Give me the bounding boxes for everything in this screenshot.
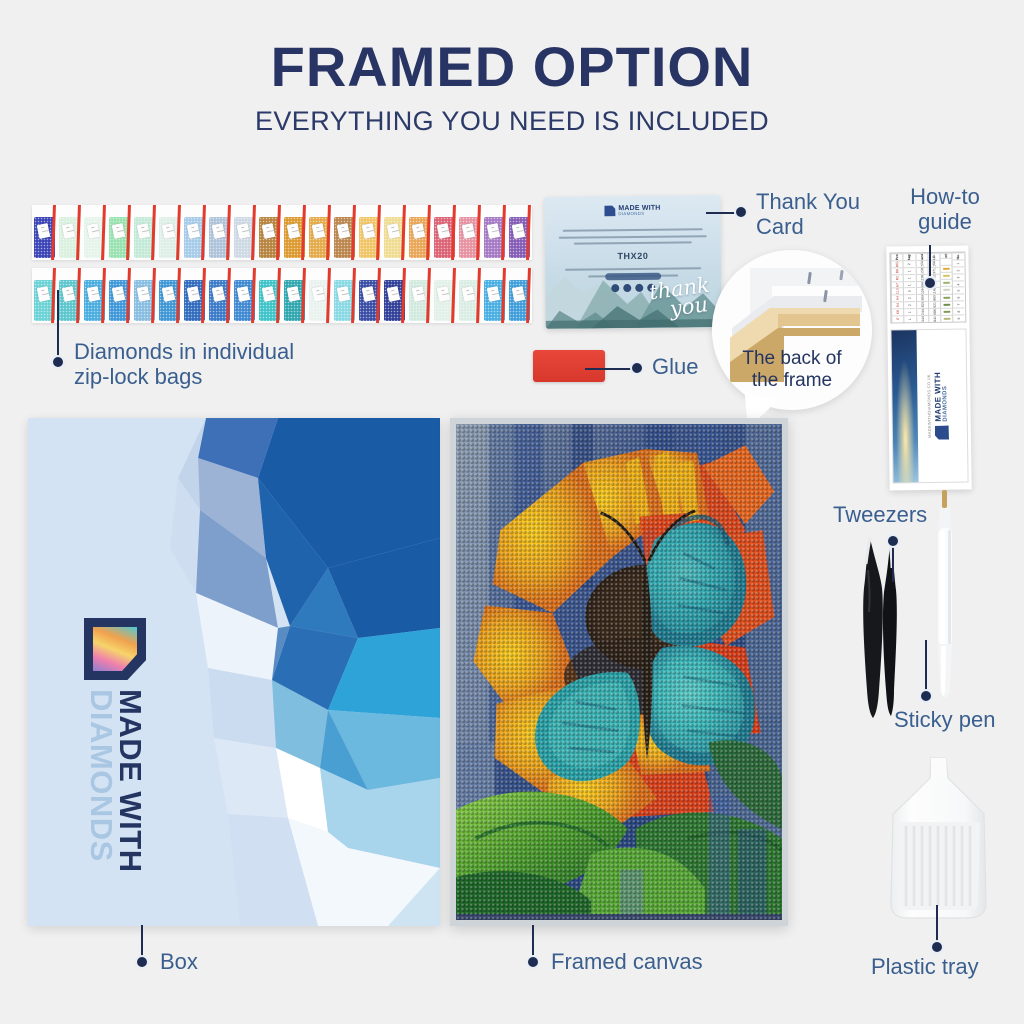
guide-table-cell: 2 <box>904 260 915 267</box>
zip-seal <box>201 205 206 260</box>
bag-label <box>36 223 50 239</box>
leader-line-glue <box>585 368 633 370</box>
ziplock-bag <box>57 205 82 260</box>
guide-table-cell: 1238 <box>916 267 927 274</box>
callout-label-framed-canvas: Framed canvas <box>551 950 771 975</box>
callout-label-glue: Glue <box>652 355 698 380</box>
zip-seal <box>276 205 281 260</box>
zip-seal <box>476 205 481 260</box>
card-text-line-3 <box>574 242 692 245</box>
bag-label <box>311 223 325 239</box>
framed-canvas <box>450 418 788 926</box>
ziplock-bag <box>82 205 107 260</box>
bubble-caption: The back of the frame <box>712 348 872 391</box>
zip-seal <box>76 205 81 260</box>
guide-table-cell <box>941 300 952 307</box>
ziplock-bag <box>332 268 357 323</box>
bag-label <box>211 286 225 302</box>
color-swatch <box>944 317 951 319</box>
zip-seal <box>426 268 431 323</box>
bag-label <box>61 223 75 239</box>
bag-label <box>311 286 325 302</box>
ziplock-bag <box>407 268 432 323</box>
guide-cover-photo <box>892 330 919 482</box>
zip-seal <box>126 268 131 323</box>
zip-seal <box>301 205 306 260</box>
bag-label <box>286 223 300 239</box>
zip-seal <box>176 268 181 323</box>
callout-label-box: Box <box>160 950 198 975</box>
ziplock-bag-row-top <box>32 205 532 260</box>
sticky-pen-icon <box>930 490 960 705</box>
ziplock-bag <box>457 268 482 323</box>
callout-dot-framed-canvas <box>526 955 540 969</box>
ziplock-bag <box>207 205 232 260</box>
ziplock-bag <box>232 205 257 260</box>
callout-dot-thank-you <box>734 205 748 219</box>
canvas-artwork <box>456 424 782 920</box>
zip-seal <box>51 268 56 323</box>
bag-label <box>486 223 500 239</box>
ziplock-bag <box>282 268 307 323</box>
bag-label <box>36 286 50 302</box>
ziplock-bag <box>182 268 207 323</box>
bag-label <box>411 286 425 302</box>
zip-seal <box>326 205 331 260</box>
bag-label <box>386 223 400 239</box>
zip-seal <box>251 268 256 323</box>
ziplock-bag <box>432 205 457 260</box>
zip-seal <box>526 268 531 323</box>
bag-label <box>511 286 525 302</box>
ziplock-bag <box>57 268 82 323</box>
zip-seal <box>401 268 406 323</box>
bag-label <box>436 286 450 302</box>
guide-table-column: PcsR61B8R2A711.9A4A4K8I7 <box>891 253 904 322</box>
glue-packet-icon <box>533 350 605 382</box>
ziplock-bag <box>382 205 407 260</box>
zip-seal <box>226 268 231 323</box>
page-subtitle: EVERYTHING YOU NEED IS INCLUDED <box>0 106 1024 137</box>
ziplock-bag <box>182 205 207 260</box>
color-swatch <box>944 310 951 312</box>
brand-mark-icon <box>604 206 615 217</box>
callout-dot-plastic-tray <box>930 940 944 954</box>
ziplock-bag <box>257 205 282 260</box>
ziplock-bag <box>357 205 382 260</box>
color-swatch <box>944 303 951 305</box>
card-brand-sub: DIAMONDS <box>618 212 660 217</box>
zip-seal <box>101 268 106 323</box>
ziplock-bag <box>507 268 532 323</box>
callout-label-sticky-pen: Sticky pen <box>894 708 996 733</box>
guide-table-cell: 2 <box>953 266 964 273</box>
product-box: MADE WITH DIAMONDS <box>28 418 440 926</box>
ziplock-bag <box>457 205 482 260</box>
guide-table-cell <box>941 314 952 321</box>
ziplock-bag <box>282 205 307 260</box>
bag-label <box>486 286 500 302</box>
leader-line-sticky-pen <box>925 640 927 692</box>
ziplock-bag <box>107 268 132 323</box>
box-wordmark-top: MADE WITH <box>115 689 144 873</box>
zip-seal <box>501 268 506 323</box>
leader-line-plastic-tray <box>936 905 938 943</box>
ziplock-bag <box>507 205 532 260</box>
zip-seal <box>526 205 531 260</box>
bag-label <box>111 286 125 302</box>
ziplock-bag <box>257 268 282 323</box>
zip-seal <box>151 205 156 260</box>
bag-label <box>161 223 175 239</box>
callout-dot-how-to <box>923 276 937 290</box>
zip-seal <box>251 205 256 260</box>
bag-label <box>436 223 450 239</box>
instagram-icon <box>623 284 631 292</box>
ziplock-bag <box>482 268 507 323</box>
leader-line-framed-canvas <box>532 925 534 958</box>
guide-table-cell: 3 <box>953 273 964 280</box>
zip-seal <box>101 205 106 260</box>
leader-line-tweezers <box>892 545 894 582</box>
ziplock-bag <box>132 268 157 323</box>
color-swatch <box>943 289 950 291</box>
bag-label <box>136 223 150 239</box>
card-brand-lockup: MADE WITH DIAMONDS <box>544 204 720 217</box>
bag-label <box>361 223 375 239</box>
guide-brand-sub: DIAMONDS <box>943 372 950 422</box>
box-brand-lockup: MADE WITH DIAMONDS <box>84 618 146 873</box>
callout-label-how-to: How-to guide <box>890 185 1000 234</box>
guide-table-cell: 9 <box>954 314 965 321</box>
zip-seal <box>201 268 206 323</box>
zip-seal <box>176 205 181 260</box>
guide-table-cell: I7 <box>892 315 903 322</box>
guide-table-cell: 1 <box>953 259 964 266</box>
sunflower-butterfly-art <box>456 424 782 914</box>
ziplock-bag <box>407 205 432 260</box>
ziplock-bag <box>382 268 407 323</box>
callout-label-plastic-tray: Plastic tray <box>871 955 979 980</box>
color-swatch <box>943 275 950 277</box>
plastic-tray-icon <box>874 756 1004 936</box>
zip-seal <box>76 268 81 323</box>
zip-seal <box>151 268 156 323</box>
bag-label <box>461 286 475 302</box>
brand-mark-icon <box>935 425 949 439</box>
back-of-frame-bubble: The back of the frame <box>712 250 872 410</box>
zip-seal <box>476 268 481 323</box>
ziplock-bag <box>307 268 332 323</box>
guide-table-column: No.123456789 <box>952 253 965 322</box>
bag-label <box>286 286 300 302</box>
guide-table-column: Bags211152211 <box>903 253 916 322</box>
leader-line-diamonds <box>57 290 59 358</box>
color-swatch <box>943 282 950 284</box>
bag-label <box>211 223 225 239</box>
card-text-line-1 <box>563 229 702 232</box>
ziplock-bag-row-bottom <box>32 268 532 323</box>
ziplock-bag <box>157 268 182 323</box>
guide-cover-brand: MADEWITHDIAMONDS.CO.UK MADE WITH DIAMOND… <box>917 329 968 481</box>
guide-table-cell: R61 <box>892 260 903 267</box>
guide-table-cell: R2 <box>892 274 903 281</box>
callout-label-tweezers: Tweezers <box>833 503 927 528</box>
bag-label <box>186 286 200 302</box>
zip-seal <box>51 205 56 260</box>
callout-dot-glue <box>630 361 644 375</box>
bag-label <box>161 286 175 302</box>
zip-seal <box>301 268 306 323</box>
bag-label <box>86 223 100 239</box>
zip-seal <box>226 205 231 260</box>
bag-label <box>336 223 350 239</box>
callout-label-thank-you: Thank You Card <box>756 190 896 239</box>
pinterest-icon <box>635 284 643 292</box>
brand-mark-icon <box>84 618 146 680</box>
box-wordmark-bottom: DIAMONDS <box>86 689 115 873</box>
guide-table-cell: 1534 <box>916 260 927 267</box>
bag-label <box>236 286 250 302</box>
bag-label <box>86 286 100 302</box>
bag-label <box>186 223 200 239</box>
ziplock-bag <box>32 268 57 323</box>
zip-seal <box>326 268 331 323</box>
callout-dot-tweezers <box>886 534 900 548</box>
callout-dot-sticky-pen <box>919 689 933 703</box>
guide-table-cell: 841 <box>929 315 940 322</box>
callout-dot-box <box>135 955 149 969</box>
ziplock-bag <box>232 268 257 323</box>
leader-line-box <box>141 925 143 958</box>
guide-table-cell: B8 <box>892 267 903 274</box>
guide-table-cell: 1 <box>905 315 916 322</box>
zip-seal <box>351 205 356 260</box>
facebook-icon <box>611 285 619 293</box>
ziplock-bag <box>432 268 457 323</box>
bag-label <box>386 286 400 302</box>
tweezers-icon <box>846 530 916 720</box>
callout-label-diamonds: Diamonds in individual zip-lock bags <box>74 340 354 389</box>
bag-label <box>236 223 250 239</box>
bag-label <box>336 286 350 302</box>
bag-label <box>261 223 275 239</box>
color-swatch <box>944 296 951 298</box>
ziplock-bag <box>307 205 332 260</box>
zip-seal <box>451 205 456 260</box>
card-text-line-4 <box>565 267 701 270</box>
color-swatch <box>943 268 950 270</box>
bag-label <box>261 286 275 302</box>
card-thank-you-script: thank you <box>648 276 713 322</box>
bag-label <box>136 286 150 302</box>
guide-table-cell <box>941 293 952 300</box>
color-swatch <box>943 261 950 263</box>
card-discount-code: THX20 <box>557 250 708 262</box>
bag-label <box>111 223 125 239</box>
callout-dot-diamonds <box>51 355 65 369</box>
kit-contents-infographic: FRAMED OPTION EVERYTHING YOU NEED IS INC… <box>0 0 1024 1024</box>
bag-label <box>411 223 425 239</box>
zip-seal <box>376 268 381 323</box>
zip-seal <box>451 268 456 323</box>
guide-table-column: Symbol <box>940 253 953 322</box>
guide-website-text: MADEWITHDIAMONDS.CO.UK <box>926 374 932 438</box>
guide-table-cell <box>941 307 952 314</box>
ziplock-bag <box>357 268 382 323</box>
bag-label <box>461 223 475 239</box>
ziplock-bag <box>32 205 57 260</box>
guide-table-cell <box>941 286 952 293</box>
card-text-line-2 <box>559 235 707 239</box>
zip-seal <box>376 205 381 260</box>
ziplock-bag <box>157 205 182 260</box>
zip-seal <box>401 205 406 260</box>
page-title: FRAMED OPTION <box>0 34 1024 99</box>
guide-table-cell: 1 <box>904 267 915 274</box>
zip-seal <box>126 205 131 260</box>
thank-you-card: MADE WITH DIAMONDS THX20 thank you <box>544 195 721 329</box>
bag-label <box>361 286 375 302</box>
ziplock-bag <box>482 205 507 260</box>
zip-seal <box>501 205 506 260</box>
ziplock-bag <box>107 205 132 260</box>
bag-label <box>511 223 525 239</box>
zip-seal <box>426 205 431 260</box>
ziplock-bag <box>207 268 232 323</box>
zip-seal <box>351 268 356 323</box>
guide-cover-panel: MADEWITHDIAMONDS.CO.UK MADE WITH DIAMOND… <box>891 328 969 483</box>
guide-table-cell: 1 <box>904 274 915 281</box>
ziplock-bag <box>332 205 357 260</box>
zip-seal <box>276 268 281 323</box>
ziplock-bag <box>132 205 157 260</box>
ziplock-bag <box>82 268 107 323</box>
guide-table-cell: 344 <box>917 315 928 322</box>
bag-label <box>61 286 75 302</box>
